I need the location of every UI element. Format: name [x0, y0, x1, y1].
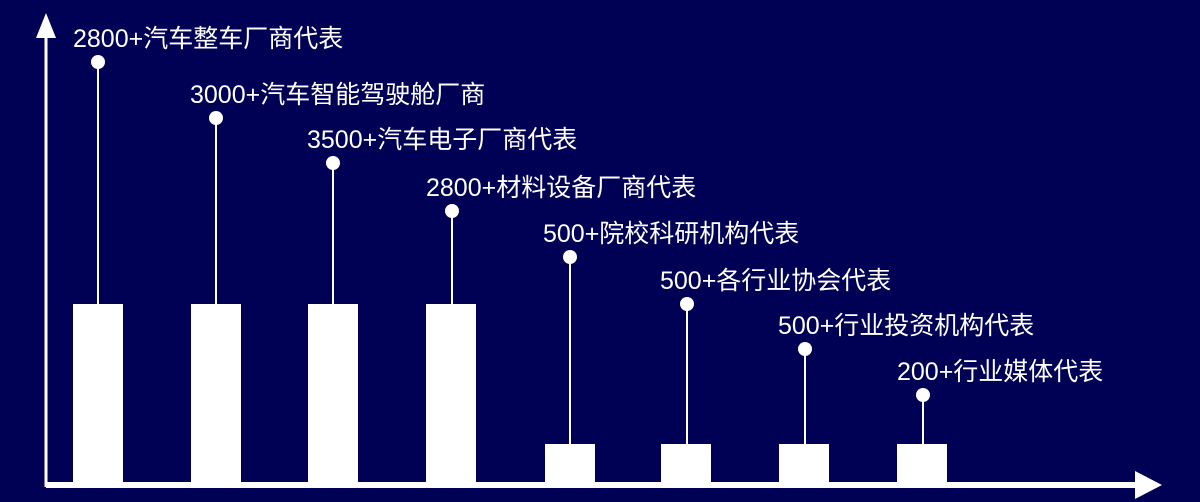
leader-dot-3	[445, 204, 459, 218]
leader-stem-1	[215, 118, 217, 304]
callout-label-4: 500+院校科研机构代表	[543, 222, 799, 247]
chart-canvas: 2800+汽车整车厂商代表 3000+汽车智能驾驶舱厂商 3500+汽车电子厂商…	[0, 0, 1200, 502]
bar-5	[661, 444, 711, 483]
callout-label-5: 500+各行业协会代表	[660, 269, 891, 294]
callout-label-6: 500+行业投资机构代表	[778, 314, 1034, 339]
callout-label-0: 2800+汽车整车厂商代表	[73, 27, 343, 52]
leader-dot-2	[326, 156, 340, 170]
leader-stem-7	[922, 395, 924, 444]
leader-dot-5	[680, 297, 694, 311]
leader-dot-0	[91, 55, 105, 69]
x-axis-arrowhead	[1135, 471, 1162, 499]
leader-stem-4	[569, 257, 571, 444]
chart-axes	[0, 0, 1200, 502]
y-axis-arrowhead	[36, 13, 56, 38]
leader-dot-7	[916, 388, 930, 402]
callout-label-1: 3000+汽车智能驾驶舱厂商	[190, 83, 485, 108]
callout-label-2: 3500+汽车电子厂商代表	[307, 128, 577, 153]
callout-label-3: 2800+材料设备厂商代表	[426, 176, 696, 201]
bar-3	[426, 304, 476, 483]
leader-stem-5	[686, 304, 688, 444]
leader-stem-2	[332, 163, 334, 304]
bar-2	[308, 304, 358, 483]
leader-dot-4	[563, 250, 577, 264]
leader-stem-3	[451, 211, 453, 304]
bar-7	[897, 444, 947, 483]
bar-1	[191, 304, 241, 483]
leader-stem-6	[804, 349, 806, 444]
bar-0	[73, 304, 123, 483]
leader-dot-1	[209, 111, 223, 125]
bar-6	[779, 444, 829, 483]
bar-4	[545, 444, 595, 483]
leader-dot-6	[798, 342, 812, 356]
leader-stem-0	[97, 62, 99, 304]
callout-label-7: 200+行业媒体代表	[897, 360, 1103, 385]
